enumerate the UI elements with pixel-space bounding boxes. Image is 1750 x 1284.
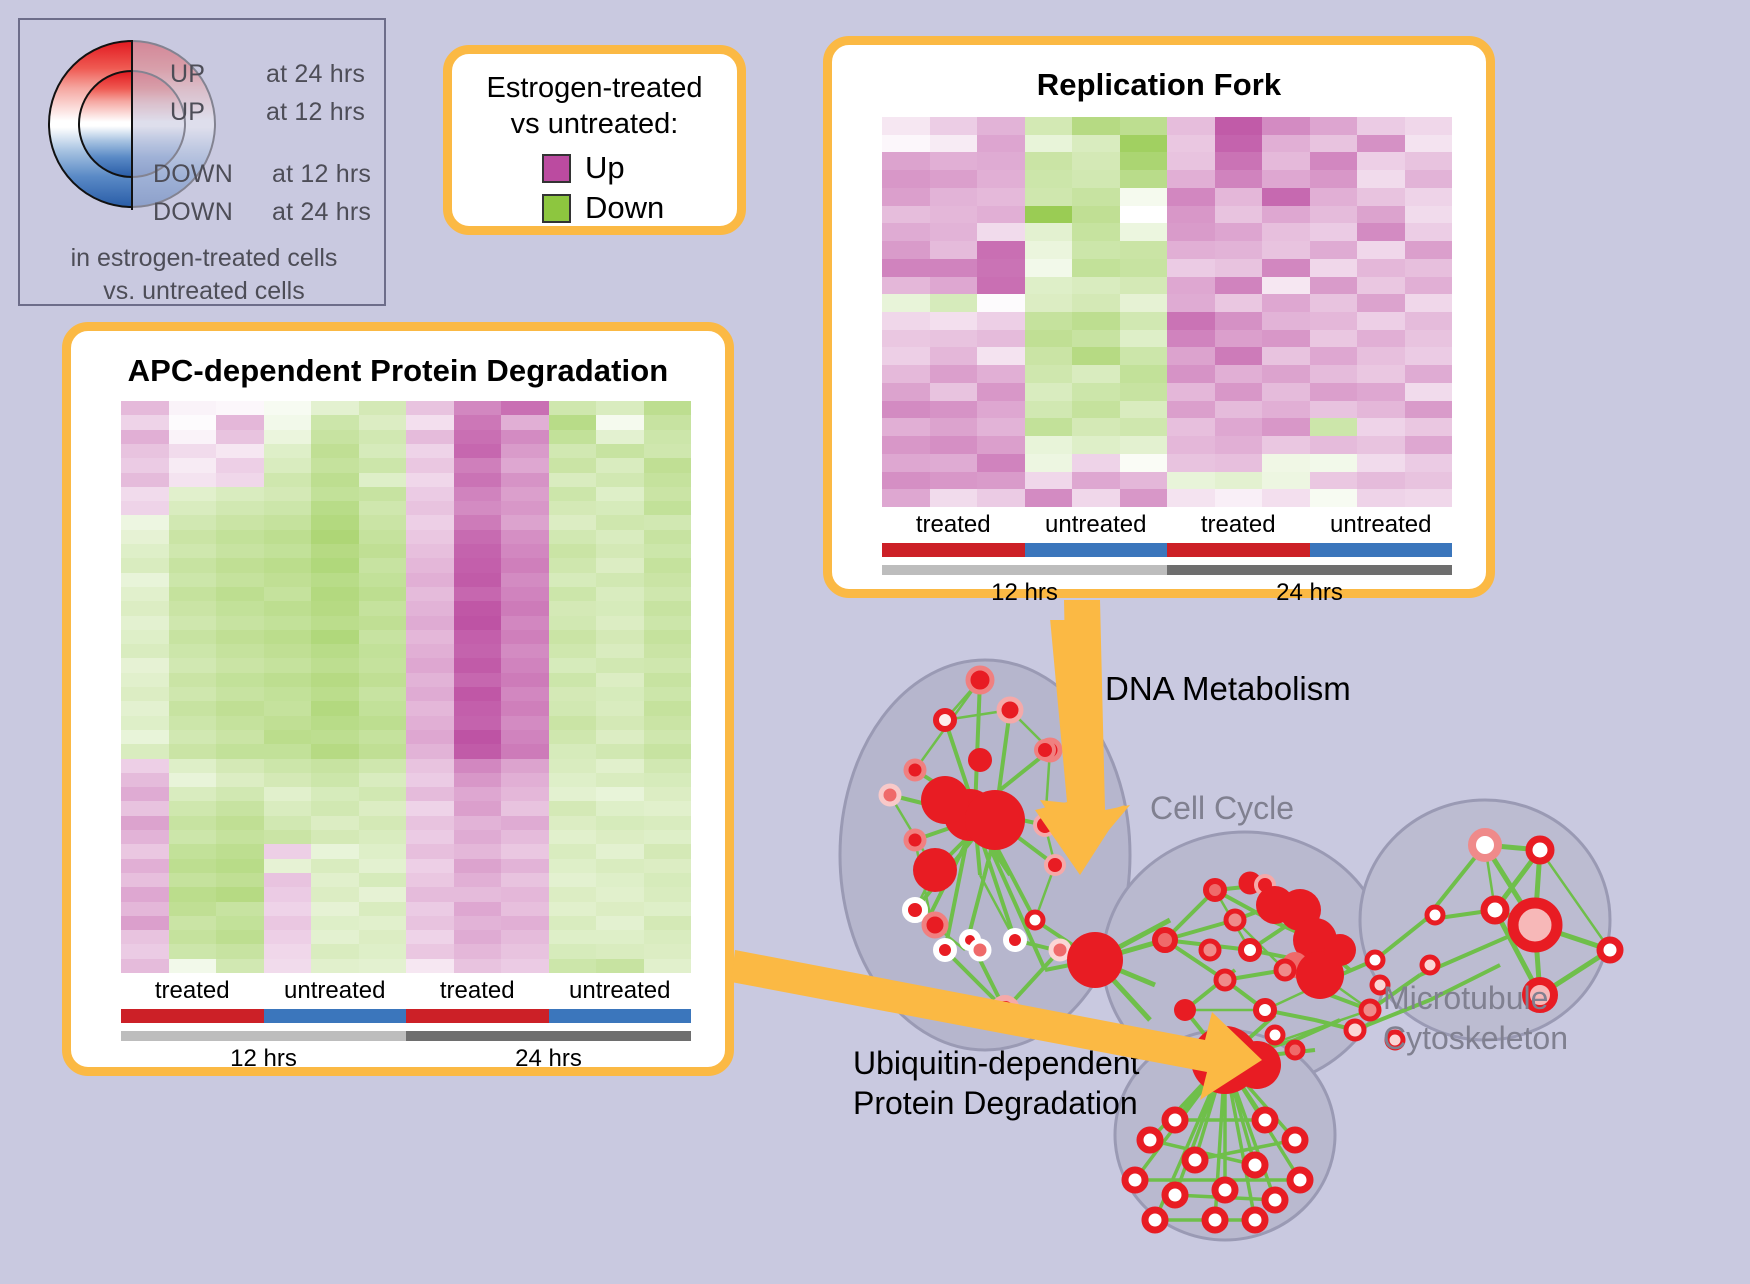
heatmap-cell [406,773,454,787]
heatmap-cell [1215,223,1263,241]
heatmap-cell [1357,294,1405,312]
heatmap-cell [1405,117,1453,135]
heatmap-cell [1262,117,1310,135]
heatmap-cell [406,816,454,830]
heatmap-cell [644,916,692,930]
heatmap-cell [454,501,502,515]
heatmap-cell [596,616,644,630]
heatmap-cell [359,944,407,958]
heatmap-cell [406,487,454,501]
heatmap-cell [644,601,692,615]
heatmap-cell [216,687,264,701]
heatmap-cell [454,873,502,887]
heatmap-cell [121,515,169,529]
heatmap-cell [977,170,1025,188]
apc-degradation-treatment-bar [121,1009,691,1023]
group-label: treated [121,977,264,1005]
heatmap-cell [121,530,169,544]
heatmap-cell [1262,312,1310,330]
heatmap-cell [977,489,1025,507]
heatmap-cell [1215,312,1263,330]
heatmap-cell [216,544,264,558]
heatmap-cell [501,759,549,773]
heatmap-cell [406,444,454,458]
heatmap-cell [882,135,930,153]
heatmap-cell [359,844,407,858]
group-label: untreated [264,977,407,1005]
heatmap-cell [406,501,454,515]
time-bar-segment [1167,565,1452,575]
heatmap-cell [501,787,549,801]
heatmap-cell [1167,330,1215,348]
heatmap-cell [121,473,169,487]
heatmap-cell [406,730,454,744]
heatmap-cell [169,687,217,701]
heatmap-cell [1167,454,1215,472]
replication-fork-title: Replication Fork [832,67,1486,103]
heatmap-cell [977,135,1025,153]
heatmap-cell [359,501,407,515]
heatmap-cell [1405,401,1453,419]
heatmap-cell [596,787,644,801]
heatmap-cell [454,816,502,830]
time-label: 12 hrs [882,579,1167,607]
heatmap-cell [644,902,692,916]
heatmap-cell [169,401,217,415]
treatment-bar-segment [1310,543,1453,557]
heatmap-cell [1405,241,1453,259]
treatment-bar-segment [1167,543,1310,557]
time-label: 24 hrs [1167,579,1452,607]
heatmap-cell [882,347,930,365]
heatmap-cell [1262,401,1310,419]
heatmap-cell [644,730,692,744]
heatmap-cell [454,473,502,487]
heatmap-cell [1215,277,1263,295]
heatmap-cell [501,773,549,787]
heatmap-cell [264,787,312,801]
heatmap-cell [406,616,454,630]
heatmap-cell [454,487,502,501]
heatmap-cell [1072,454,1120,472]
heatmap-cell [549,601,597,615]
heatmap-cell [1262,418,1310,436]
heatmap-cell [169,530,217,544]
heatmap-cell [311,687,359,701]
updown-legend-title-line2: vs untreated: [452,106,737,142]
heatmap-cell [216,573,264,587]
heatmap-cell [216,444,264,458]
heatmap-cell [644,830,692,844]
heatmap-cell [596,658,644,672]
heatmap-cell [644,873,692,887]
heatmap-cell [1072,135,1120,153]
heatmap-cell [216,744,264,758]
gradient-legend-box: UP at 24 hrs UP at 12 hrs DOWN at 12 hrs… [18,18,386,306]
heatmap-cell [644,716,692,730]
heatmap-cell [121,773,169,787]
heatmap-cell [264,644,312,658]
heatmap-cell [169,544,217,558]
heatmap-cell [311,444,359,458]
heatmap-cell [596,887,644,901]
heatmap-cell [1357,436,1405,454]
heatmap-cell [216,515,264,529]
heatmap-cell [216,887,264,901]
heatmap-cell [501,673,549,687]
heatmap-cell [644,759,692,773]
heatmap-cell [501,415,549,429]
heatmap-cell [882,277,930,295]
heatmap-cell [359,430,407,444]
heatmap-cell [264,773,312,787]
heatmap-cell [549,759,597,773]
heatmap-cell [644,544,692,558]
heatmap-cell [121,687,169,701]
heatmap-cell [501,744,549,758]
heatmap-cell [264,830,312,844]
heatmap-cell [1310,489,1358,507]
heatmap-cell [930,472,978,490]
heatmap-cell [406,573,454,587]
heatmap-cell [1262,241,1310,259]
heatmap-cell [121,415,169,429]
heatmap-cell [406,673,454,687]
heatmap-cell [882,223,930,241]
heatmap-cell [359,773,407,787]
heatmap-cell [1167,383,1215,401]
apc-degradation-time-labels: 12 hrs24 hrs [121,1045,691,1073]
heatmap-cell [596,487,644,501]
heatmap-cell [121,573,169,587]
heatmap-cell [359,930,407,944]
heatmap-cell [216,658,264,672]
heatmap-cell [1215,347,1263,365]
heatmap-cell [1167,472,1215,490]
heatmap-cell [501,487,549,501]
heatmap-cell [311,902,359,916]
heatmap-cell [596,816,644,830]
time-bar-segment [406,1031,691,1041]
cluster-label-ubiquitin-line2: Protein Degradation [853,1085,1138,1122]
heatmap-cell [454,630,502,644]
heatmap-cell [121,644,169,658]
heatmap-cell [311,473,359,487]
heatmap-cell [454,458,502,472]
heatmap-cell [930,117,978,135]
heatmap-cell [1215,365,1263,383]
heatmap-cell [216,959,264,973]
heatmap-cell [1120,347,1168,365]
heatmap-cell [454,558,502,572]
heatmap-cell [882,436,930,454]
heatmap-cell [596,716,644,730]
legend-state-3: DOWN [153,198,233,227]
heatmap-cell [644,558,692,572]
heatmap-cell [216,830,264,844]
heatmap-cell [882,170,930,188]
heatmap-cell [930,259,978,277]
heatmap-cell [359,701,407,715]
heatmap-cell [1120,489,1168,507]
heatmap-cell [549,773,597,787]
heatmap-cell [311,573,359,587]
heatmap-cell [1120,401,1168,419]
group-label: treated [406,977,549,1005]
heatmap-cell [454,944,502,958]
heatmap-cell [121,944,169,958]
heatmap-cell [264,658,312,672]
heatmap-cell [1215,472,1263,490]
heatmap-cell [1310,401,1358,419]
heatmap-cell [121,844,169,858]
heatmap-cell [549,458,597,472]
heatmap-cell [169,616,217,630]
heatmap-cell [1072,241,1120,259]
heatmap-cell [121,930,169,944]
heatmap-cell [549,616,597,630]
heatmap-cell [1120,472,1168,490]
heatmap-cell [1120,312,1168,330]
heatmap-cell [1357,241,1405,259]
legend-caption-line1: in estrogen-treated cells [20,242,388,275]
heatmap-cell [644,944,692,958]
heatmap-cell [1262,347,1310,365]
heatmap-cell [1310,472,1358,490]
heatmap-cell [930,436,978,454]
heatmap-cell [359,759,407,773]
heatmap-cell [169,601,217,615]
heatmap-cell [121,902,169,916]
heatmap-cell [359,530,407,544]
heatmap-cell [1405,347,1453,365]
heatmap-cell [644,415,692,429]
heatmap-cell [596,430,644,444]
heatmap-cell [596,959,644,973]
heatmap-cell [549,501,597,515]
heatmap-cell [644,573,692,587]
time-bar-segment [882,565,1167,575]
heatmap-cell [977,152,1025,170]
heatmap-cell [1025,401,1073,419]
heatmap-cell [406,687,454,701]
heatmap-cell [169,430,217,444]
heatmap-cell [169,444,217,458]
heatmap-cell [549,544,597,558]
heatmap-cell [977,401,1025,419]
heatmap-cell [1262,489,1310,507]
heatmap-cell [596,730,644,744]
heatmap-cell [1072,259,1120,277]
heatmap-cell [596,415,644,429]
heatmap-cell [1405,454,1453,472]
heatmap-cell [359,801,407,815]
heatmap-cell [1072,347,1120,365]
heatmap-cell [1310,294,1358,312]
heatmap-cell [501,930,549,944]
heatmap-cell [264,501,312,515]
heatmap-cell [977,206,1025,224]
heatmap-cell [359,859,407,873]
apc-degradation-title: APC-dependent Protein Degradation [71,353,725,389]
heatmap-cell [311,430,359,444]
heatmap-cell [1025,489,1073,507]
heatmap-cell [549,930,597,944]
heatmap-cell [454,787,502,801]
heatmap-cell [359,730,407,744]
heatmap-cell [1025,472,1073,490]
heatmap-cell [596,601,644,615]
heatmap-cell [216,801,264,815]
heatmap-cell [1262,383,1310,401]
heatmap-cell [121,916,169,930]
heatmap-cell [1357,401,1405,419]
heatmap-cell [1215,241,1263,259]
heatmap-cell [1357,365,1405,383]
heatmap-cell [1310,170,1358,188]
heatmap-cell [216,473,264,487]
heatmap-cell [121,859,169,873]
heatmap-cell [1357,223,1405,241]
heatmap-cell [359,587,407,601]
group-label: untreated [1025,511,1168,539]
heatmap-cell [359,959,407,973]
heatmap-cell [216,873,264,887]
heatmap-cell [359,787,407,801]
heatmap-cell [121,716,169,730]
heatmap-cell [1310,135,1358,153]
heatmap-cell [596,773,644,787]
heatmap-cell [1025,277,1073,295]
heatmap-cell [930,454,978,472]
heatmap-cell [1025,312,1073,330]
heatmap-cell [169,902,217,916]
heatmap-cell [169,487,217,501]
heatmap-cell [454,701,502,715]
heatmap-cell [501,701,549,715]
heatmap-cell [1357,330,1405,348]
heatmap-cell [264,573,312,587]
heatmap-cell [501,687,549,701]
heatmap-cell [549,658,597,672]
heatmap-cell [1215,383,1263,401]
replication-fork-panel: Replication Fork treateduntreatedtreated… [823,36,1495,598]
heatmap-cell [596,473,644,487]
heatmap-cell [1215,135,1263,153]
heatmap-cell [596,644,644,658]
heatmap-cell [1262,294,1310,312]
heatmap-cell [1262,330,1310,348]
heatmap-cell [1120,454,1168,472]
legend-time-1: at 12 hrs [266,98,365,127]
apc-degradation-heatmap [121,401,691,973]
heatmap-cell [501,558,549,572]
heatmap-cell [359,473,407,487]
heatmap-cell [596,701,644,715]
heatmap-cell [311,515,359,529]
heatmap-cell [549,473,597,487]
heatmap-cell [264,944,312,958]
heatmap-cell [1120,259,1168,277]
heatmap-cell [1405,152,1453,170]
heatmap-cell [549,515,597,529]
heatmap-cell [311,501,359,515]
heatmap-cell [169,501,217,515]
heatmap-cell [216,430,264,444]
heatmap-cell [1262,152,1310,170]
heatmap-cell [169,658,217,672]
heatmap-cell [1405,206,1453,224]
heatmap-cell [1405,294,1453,312]
updown-legend-panel: Estrogen-treated vs untreated: Up Down [443,45,746,235]
heatmap-cell [549,944,597,958]
heatmap-cell [311,587,359,601]
heatmap-cell [216,401,264,415]
heatmap-cell [406,601,454,615]
time-bar-segment [121,1031,406,1041]
heatmap-cell [359,515,407,529]
heatmap-cell [1405,489,1453,507]
heatmap-cell [1025,259,1073,277]
replication-fork-group-labels: treateduntreatedtreateduntreated [882,511,1452,539]
heatmap-cell [977,383,1025,401]
heatmap-cell [311,773,359,787]
heatmap-cell [1262,135,1310,153]
heatmap-cell [406,630,454,644]
heatmap-cell [644,673,692,687]
heatmap-cell [169,673,217,687]
heatmap-cell [977,312,1025,330]
heatmap-cell [1025,347,1073,365]
heatmap-cell [1120,365,1168,383]
heatmap-cell [121,444,169,458]
heatmap-cell [359,401,407,415]
heatmap-cell [121,730,169,744]
heatmap-cell [501,859,549,873]
heatmap-cell [1310,188,1358,206]
heatmap-cell [1120,206,1168,224]
heatmap-cell [264,759,312,773]
heatmap-cell [1405,436,1453,454]
heatmap-cell [549,916,597,930]
heatmap-cell [311,401,359,415]
heatmap-cell [169,787,217,801]
heatmap-cell [1357,418,1405,436]
heatmap-cell [596,544,644,558]
heatmap-cell [454,716,502,730]
heatmap-cell [359,673,407,687]
heatmap-cell [1025,170,1073,188]
heatmap-cell [264,930,312,944]
heatmap-cell [454,530,502,544]
heatmap-cell [264,444,312,458]
heatmap-cell [1310,206,1358,224]
heatmap-cell [1072,117,1120,135]
heatmap-cell [406,744,454,758]
heatmap-cell [1025,294,1073,312]
heatmap-cell [1262,454,1310,472]
heatmap-cell [596,630,644,644]
heatmap-cell [1262,188,1310,206]
heatmap-cell [882,206,930,224]
heatmap-cell [311,873,359,887]
heatmap-cell [1167,347,1215,365]
heatmap-cell [1357,188,1405,206]
heatmap-cell [930,206,978,224]
heatmap-cell [264,716,312,730]
heatmap-cell [930,312,978,330]
heatmap-cell [406,930,454,944]
